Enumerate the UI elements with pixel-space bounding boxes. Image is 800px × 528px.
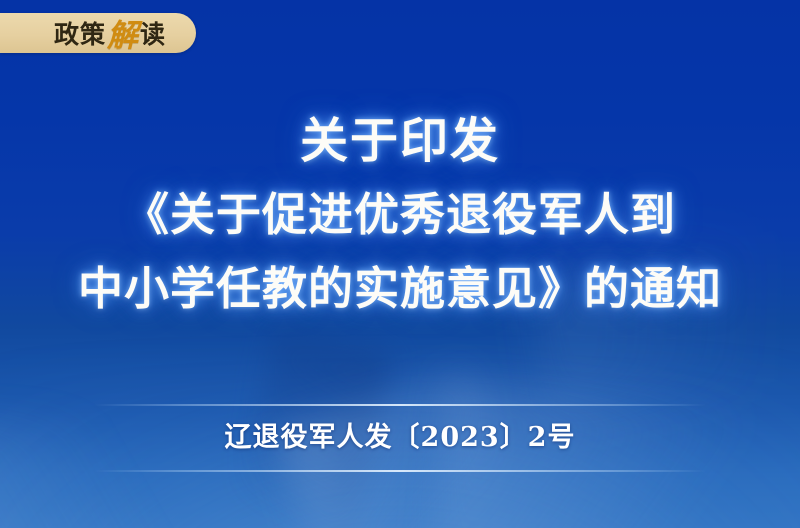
badge-label-suffix: 读	[140, 22, 166, 47]
document-number: 辽退役军人发〔2023〕2号	[225, 406, 576, 470]
policy-interpretation-poster: 政策 解 读 关于印发 《关于促进优秀退役军人到 中小学任教的实施意见》的通知 …	[0, 0, 800, 528]
title-line-1: 关于印发	[0, 104, 800, 178]
page-title: 关于印发 《关于促进优秀退役军人到 中小学任教的实施意见》的通知	[0, 104, 800, 326]
badge-label-accent: 解	[106, 21, 140, 52]
badge-label: 政策 解 读	[54, 18, 166, 49]
title-line-3: 中小学任教的实施意见》的通知	[0, 252, 800, 326]
badge-label-prefix: 政策	[54, 22, 106, 47]
document-number-block: 辽退役军人发〔2023〕2号	[0, 404, 800, 472]
policy-interpretation-badge: 政策 解 读	[0, 13, 196, 53]
divider-rule-bottom	[94, 470, 706, 472]
title-line-2: 《关于促进优秀退役军人到	[0, 178, 800, 252]
